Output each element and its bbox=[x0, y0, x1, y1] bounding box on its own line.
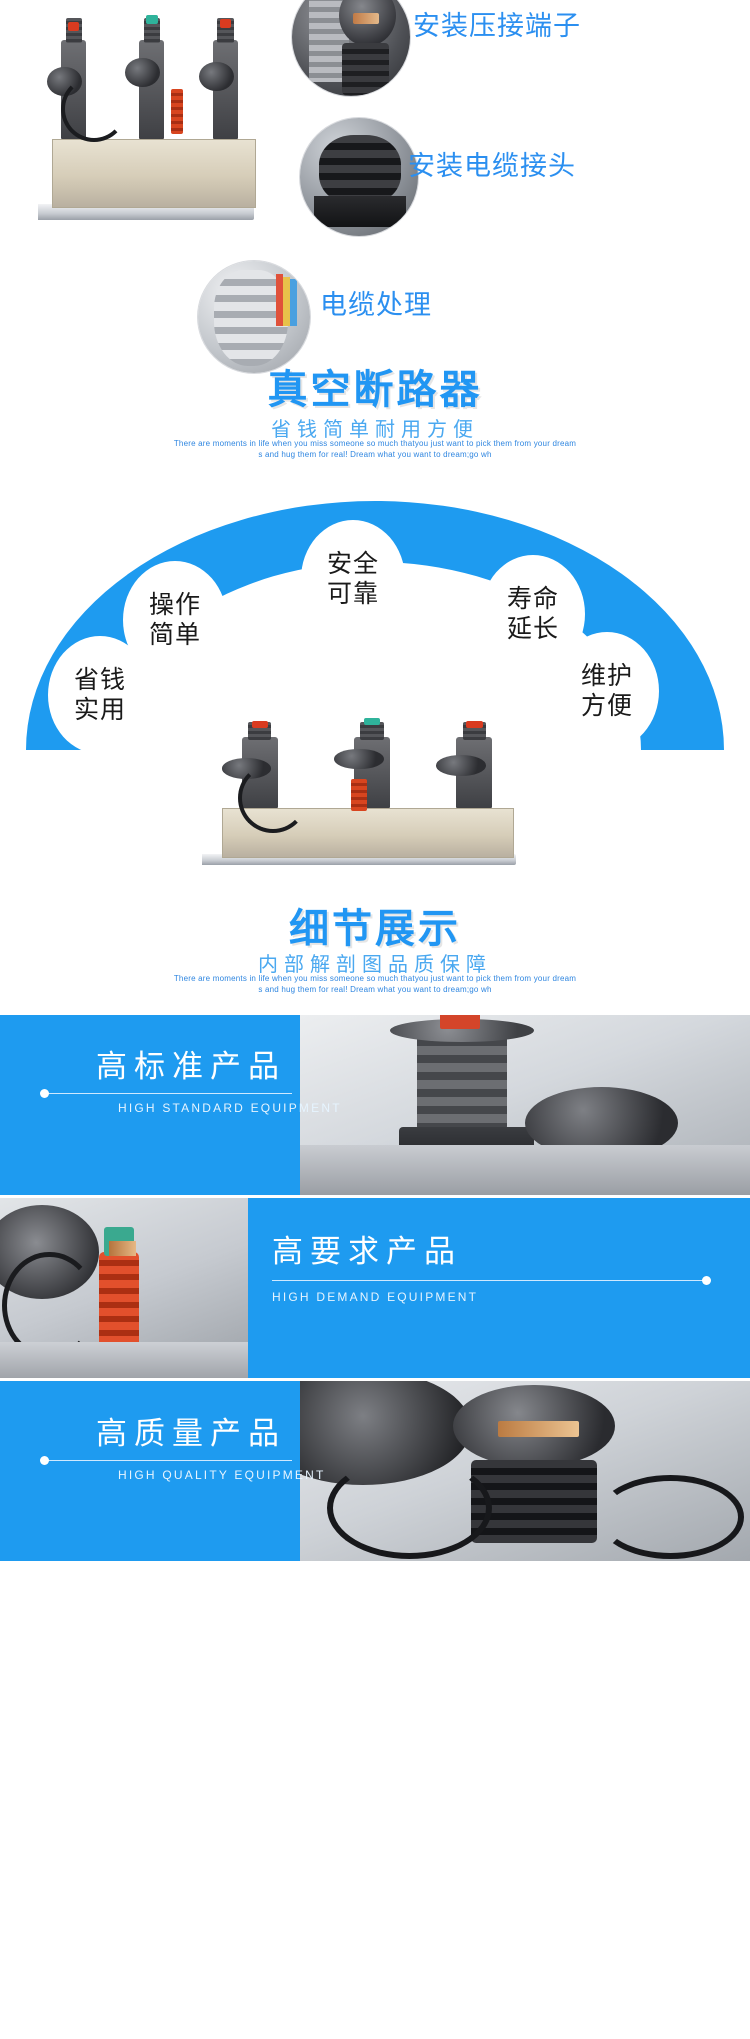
panel-title-high-standard: 高标准产品 bbox=[96, 1041, 286, 1086]
feature-center-product-photo bbox=[202, 715, 532, 875]
detail-photo-bushing-insulator bbox=[300, 1015, 750, 1195]
callout-label-cable-handling: 电缆处理 bbox=[320, 283, 432, 322]
bubble-line-2: 延长 bbox=[507, 614, 559, 644]
panel-subtitle-high-standard: HIGH STANDARD EQUIPMENT bbox=[118, 1101, 342, 1115]
bubble-line-2: 可靠 bbox=[327, 579, 379, 609]
section-one-fine-print: There are moments in life when you miss … bbox=[0, 438, 750, 460]
panel-subtitle-high-quality: HIGH QUALITY EQUIPMENT bbox=[118, 1468, 326, 1482]
bubble-line-1: 寿命 bbox=[507, 584, 559, 614]
detail-photo-red-insulator bbox=[0, 1198, 248, 1378]
panel-blue-block bbox=[248, 1198, 750, 1378]
bubble-line-2: 简单 bbox=[149, 620, 201, 650]
callout-image-crimp-terminal bbox=[292, 0, 410, 96]
bubble-line-2: 方便 bbox=[581, 691, 633, 721]
bubble-line-1: 省钱 bbox=[74, 665, 126, 695]
callout-image-cable-joint bbox=[300, 118, 418, 236]
panel-rule-high-demand bbox=[272, 1280, 709, 1281]
panel-title-high-demand: 高要求产品 bbox=[272, 1226, 462, 1271]
fine-print-line-2: s and hug them for real! Dream what you … bbox=[0, 449, 750, 460]
detail-panel-high-demand bbox=[0, 1198, 750, 1378]
panel-rule-high-quality bbox=[47, 1460, 292, 1461]
section-two-title: 细节展示 bbox=[0, 896, 750, 954]
callout-label-cable-joint: 安装电缆接头 bbox=[408, 144, 576, 183]
panel-bullet-dot-high-standard bbox=[40, 1089, 49, 1098]
feature-bubble-easy-maintenance: 维护 方便 bbox=[555, 632, 659, 750]
detail-photo-cable-terminal bbox=[300, 1381, 750, 1561]
panel-bullet-dot-high-quality bbox=[40, 1456, 49, 1465]
hero-product-photo bbox=[38, 8, 268, 233]
section-one-title: 真空断路器 bbox=[0, 357, 750, 415]
fine-print-line-1: There are moments in life when you miss … bbox=[0, 438, 750, 449]
panel-subtitle-high-demand: HIGH DEMAND EQUIPMENT bbox=[272, 1290, 478, 1304]
callout-label-crimp-terminal: 安装压接端子 bbox=[413, 4, 581, 43]
panel-rule-high-standard bbox=[47, 1093, 292, 1094]
feature-bubble-safe-reliable: 安全 可靠 bbox=[301, 520, 405, 638]
bubble-line-2: 实用 bbox=[74, 695, 126, 725]
bubble-line-1: 维护 bbox=[581, 661, 633, 691]
fine-print-line-1: There are moments in life when you miss … bbox=[0, 973, 750, 984]
bubble-line-1: 安全 bbox=[327, 549, 379, 579]
panel-bullet-dot-high-demand bbox=[702, 1276, 711, 1285]
fine-print-line-2: s and hug them for real! Dream what you … bbox=[0, 984, 750, 995]
product-detail-page: 安装压接端子 安装电缆接头 电缆处理 真空断路器 省钱简单耐用方便 There … bbox=[0, 0, 750, 2039]
feature-bubble-money-saving: 省钱 实用 bbox=[48, 636, 152, 754]
section-two-fine-print: There are moments in life when you miss … bbox=[0, 973, 750, 995]
panel-title-high-quality: 高质量产品 bbox=[96, 1408, 286, 1453]
bubble-line-1: 操作 bbox=[149, 590, 201, 620]
